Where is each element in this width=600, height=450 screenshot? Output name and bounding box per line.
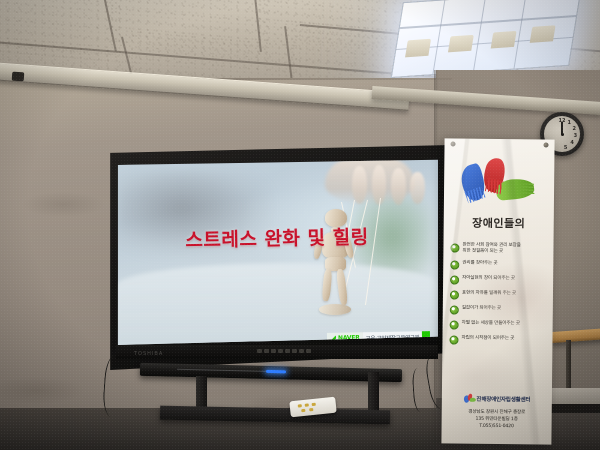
screen-finger (410, 172, 425, 204)
tv-port (278, 349, 283, 353)
bullet-icon (450, 276, 459, 285)
fluorescent-light-panel (391, 0, 582, 78)
banner-address: 경상남도 창원시 진해구 충장로 135 위민타운빌딩 1층 T.055)551… (442, 408, 552, 430)
phone-number: T.055)551-0420 (442, 422, 552, 430)
tv-port (285, 349, 290, 353)
list-item: 권리를 찾아주는 곳 (450, 260, 548, 271)
tv-port (271, 349, 276, 353)
bullet-text: 권리를 찾아주는 곳 (462, 261, 497, 268)
cabinet-base (546, 404, 600, 413)
tv-port (292, 349, 297, 353)
bullet-icon (450, 306, 459, 315)
logo-tail-red (485, 177, 504, 194)
mannequin-right-leg (335, 268, 347, 304)
bullet-icon (450, 321, 459, 330)
wall-mounted-tv[interactable]: 스트레스 완화 및 힐링 NAVER 교육·교안제작교육연구원 TOSHIBA (105, 145, 450, 370)
banner-bullet-list: 완전한 사회 참여와 권리 보장을 위한 첫걸음이 되는 곳 권리를 찾아주는 … (449, 243, 548, 352)
clock-numeral-2: 2 (572, 126, 575, 132)
remote-button (298, 404, 302, 407)
bullet-text: 표현의 자유를 일깨워 주는 곳 (462, 291, 516, 298)
bullet-text: 완전한 사회 참여와 권리 보장을 위한 첫걸음이 되는 곳 (462, 243, 520, 256)
list-item: 길잡이가 되어주는 곳 (450, 305, 548, 316)
bullet-icon (450, 261, 459, 270)
clock-numeral-5: 5 (564, 145, 567, 151)
list-item: 자립의 시작점이 되어주는 곳 (449, 335, 547, 346)
list-item: 차별 없는 세상을 만들어주는 곳 (450, 320, 548, 331)
mannequin-base-stand (319, 304, 351, 315)
bullet-text: 자립의 시작점이 되어주는 곳 (461, 336, 514, 343)
tv-screen[interactable]: 스트레스 완화 및 힐링 NAVER 교육·교안제작교육연구원 (116, 159, 438, 345)
bullet-text: 차별 없는 세상을 만들어주는 곳 (462, 321, 520, 328)
clock-numeral-4: 4 (570, 140, 573, 146)
bullet-icon (449, 336, 458, 345)
bullet-text: 자아실현의 장이 되어주는 곳 (462, 276, 515, 283)
clock-numeral-1: 1 (567, 120, 570, 126)
remote-button (305, 403, 309, 406)
remote-button (309, 408, 313, 411)
list-item: 자아실현의 장이 되어주는 곳 (450, 275, 548, 286)
banner-logo (444, 152, 555, 215)
remote-button (301, 409, 305, 412)
clock-numeral-3: 3 (574, 133, 577, 139)
banner-grommet-right (544, 142, 549, 147)
bullet-icon (450, 291, 459, 300)
tv-brand-logo: TOSHIBA (134, 351, 163, 357)
organization-logo-icon (463, 394, 474, 403)
tv-port-row (257, 349, 311, 353)
tv-port (257, 349, 262, 353)
room-photo: 12 1 2 3 4 5 (0, 0, 600, 450)
clock-center-pin (561, 133, 564, 136)
remote-button (312, 403, 316, 406)
tv-port (299, 349, 304, 353)
tv-port (264, 349, 269, 353)
list-item: 완전한 사회 참여와 권리 보장을 위한 첫걸음이 되는 곳 (450, 243, 548, 256)
soundbar-power-led (266, 370, 286, 373)
banner-organization: 진해장애인자립생활센터 (442, 393, 552, 403)
list-item: 표현의 자유를 일깨워 주는 곳 (450, 290, 548, 301)
screen-finger (352, 166, 367, 203)
mannequin-left-leg (322, 268, 333, 301)
banner-title: 장애인들의 (444, 214, 554, 231)
standing-banner: 장애인들의 완전한 사회 참여와 권리 보장을 위한 첫걸음이 되는 곳 권리를… (441, 138, 554, 444)
slide-title: 스트레스 완화 및 힐링 (116, 221, 438, 254)
logo-tail-green (516, 183, 535, 196)
screen-case-end-cap (12, 72, 25, 82)
bullet-icon (450, 243, 459, 252)
bullet-text: 길잡이가 되어주는 곳 (462, 306, 501, 313)
soundbar-grille-line (177, 369, 266, 372)
tv-port (306, 349, 311, 353)
organization-name: 진해장애인자립생활센터 (476, 394, 530, 403)
banner-grommet-left (451, 141, 456, 146)
screen-finger (391, 168, 406, 205)
